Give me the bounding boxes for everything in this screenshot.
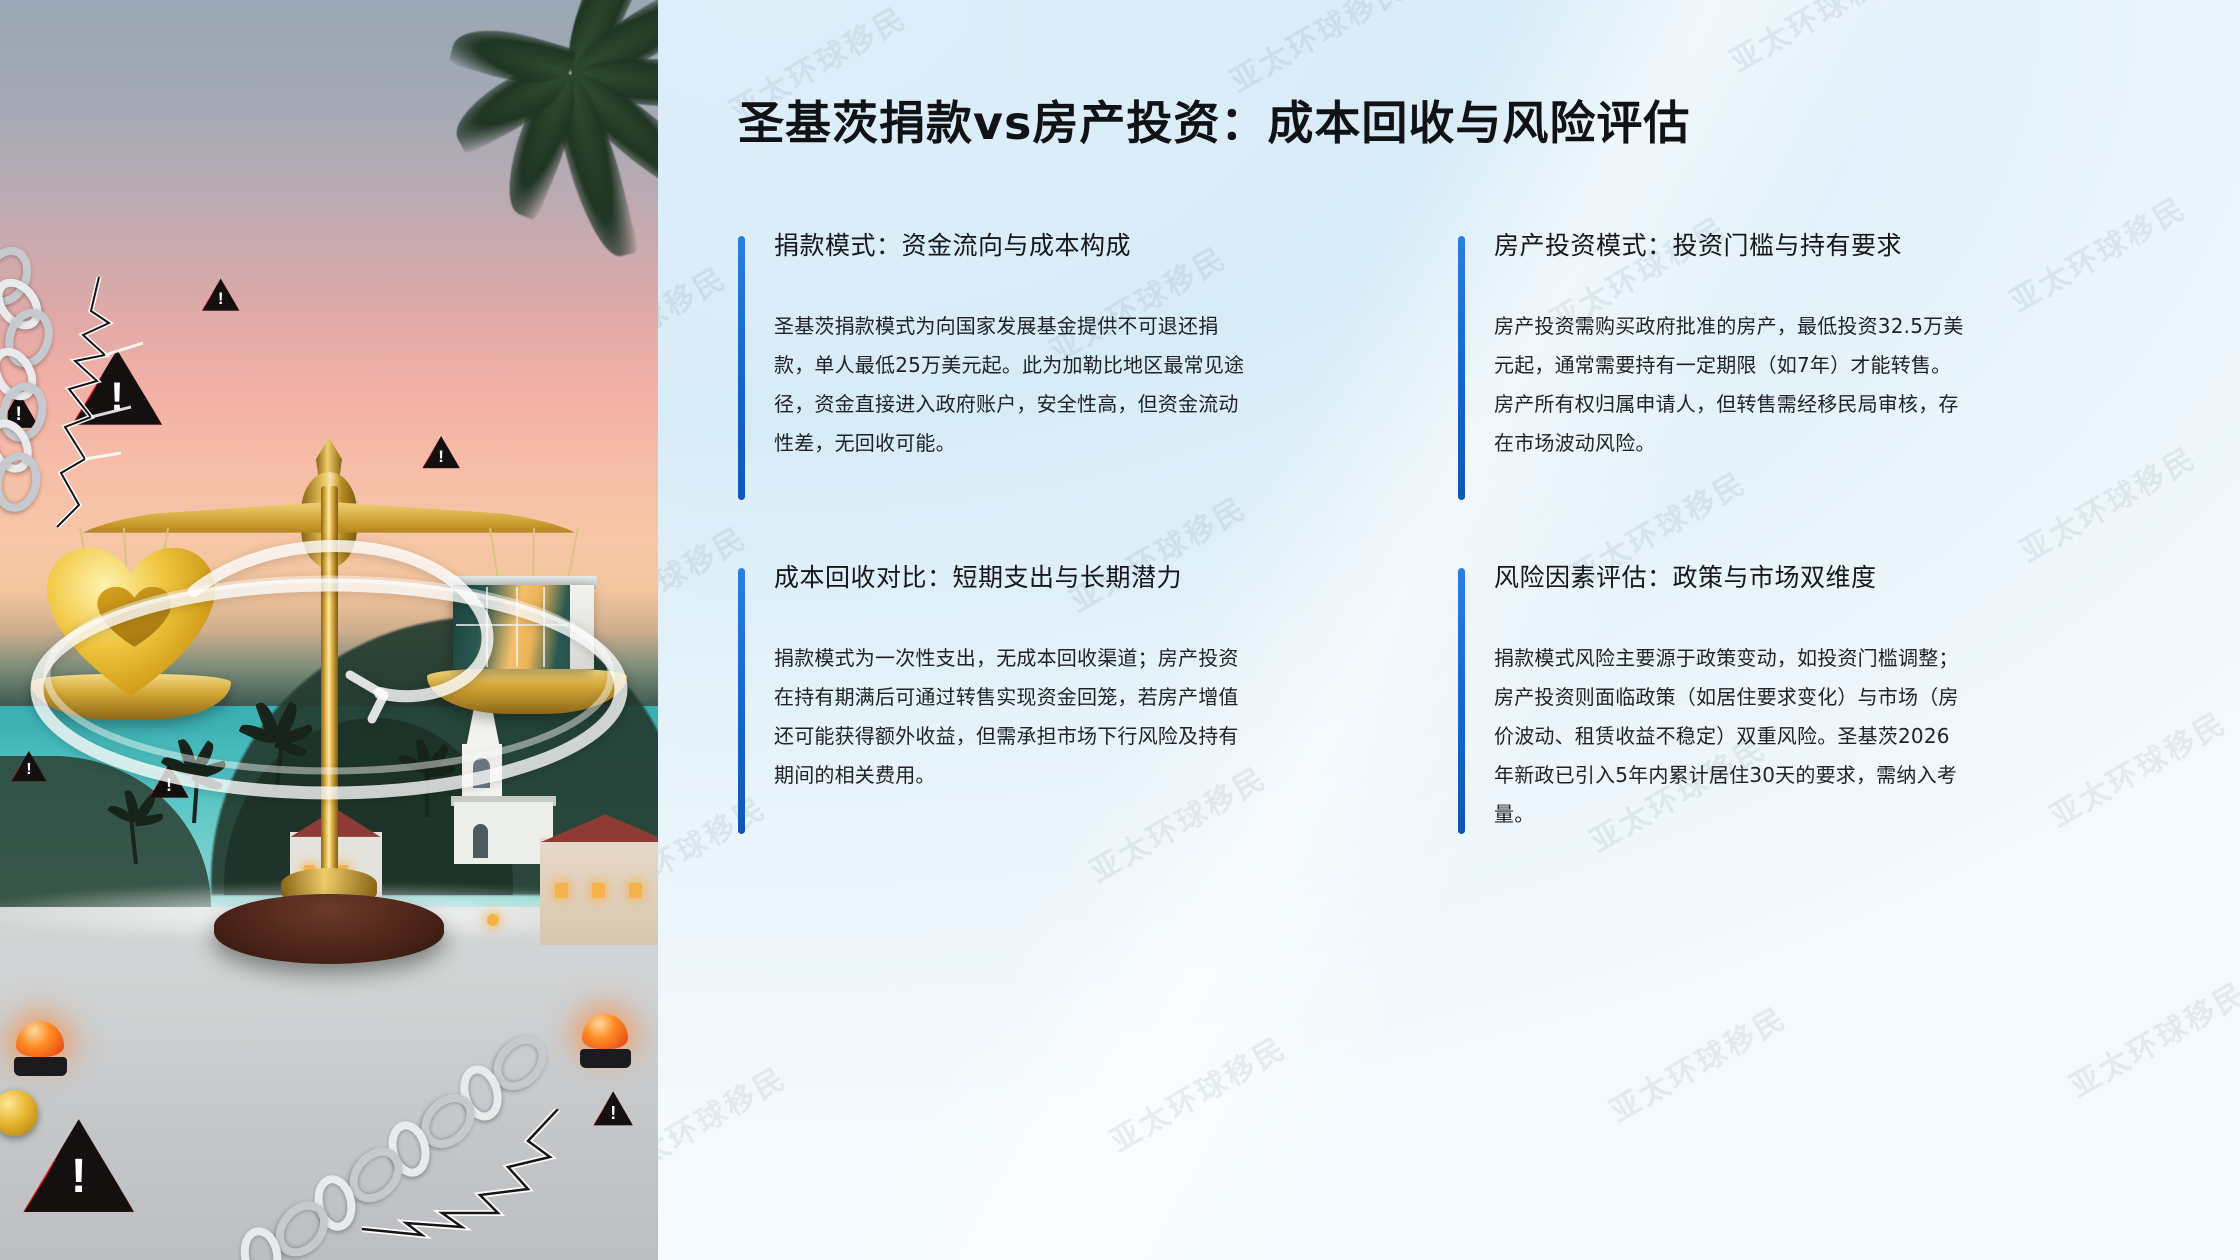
balance-scale: [49, 416, 609, 1016]
floor-crack-icon: [322, 1109, 572, 1249]
card-cost-recovery: 成本回收对比：短期支出与长期潜力 捐款模式为一次性支出，无成本回收渠道；房产投资…: [738, 562, 1246, 834]
accent-bar: [738, 236, 745, 500]
card-body: 捐款模式为一次性支出，无成本回收渠道；房产投资在持有期满后可通过转售实现资金回笼…: [774, 639, 1246, 795]
scale-post: [321, 486, 338, 906]
palm-tree-icon: [372, 0, 658, 300]
scale-base: [214, 894, 444, 964]
card-body: 捐款模式风险主要源于政策变动，如投资门槛调整；房产投资则面临政策（如居住要求变化…: [1494, 639, 1966, 834]
accent-bar: [1458, 236, 1465, 500]
warning-triangle-icon: !: [10, 750, 48, 784]
watermark-text: 亚太环球移民: [658, 1053, 794, 1190]
house-model-icon: [447, 568, 597, 676]
card-heading: 房产投资模式：投资门槛与持有要求: [1494, 230, 1966, 263]
card-property-mode: 房产投资模式：投资门槛与持有要求 房产投资需购买政府批准的房产，最低投资32.5…: [1458, 230, 1966, 500]
illustration-panel: ! ! ! ! ! ! ! !: [0, 0, 658, 1260]
gold-heart-icon: [47, 548, 215, 698]
card-donation-mode: 捐款模式：资金流向与成本构成 圣基茨捐款模式为向国家发展基金提供不可退还捐款，单…: [738, 230, 1246, 500]
watermark-text: 亚太环球移民: [1100, 1023, 1293, 1160]
card-heading: 成本回收对比：短期支出与长期潜力: [774, 562, 1246, 595]
card-heading: 风险因素评估：政策与市场双维度: [1494, 562, 1966, 595]
watermark-text: 亚太环球移民: [2060, 968, 2240, 1105]
card-body: 房产投资需购买政府批准的房产，最低投资32.5万美元起，通常需要持有一定期限（如…: [1494, 307, 1966, 463]
content-panel: 亚太环球移民 亚太环球移民 亚太环球移民 亚太环球移民 亚太环球移民 亚太环球移…: [658, 0, 2240, 1260]
accent-bar: [738, 568, 745, 834]
alarm-beacon-icon: [16, 1021, 64, 1079]
card-body: 圣基茨捐款模式为向国家发展基金提供不可退还捐款，单人最低25万美元起。此为加勒比…: [774, 307, 1246, 463]
accent-bar: [1458, 568, 1465, 834]
warning-triangle-icon: !: [20, 1115, 138, 1219]
page-title: 圣基茨捐款vs房产投资：成本回收与风险评估: [738, 95, 2158, 153]
card-heading: 捐款模式：资金流向与成本构成: [774, 230, 1246, 263]
watermark-text: 亚太环球移民: [658, 253, 734, 390]
watermark-text: 亚太环球移民: [1720, 0, 1913, 81]
card-grid: 捐款模式：资金流向与成本构成 圣基茨捐款模式为向国家发展基金提供不可退还捐款，单…: [738, 230, 2218, 834]
watermark-text: 亚太环球移民: [1220, 0, 1413, 101]
card-risk-assessment: 风险因素评估：政策与市场双维度 捐款模式风险主要源于政策变动，如投资门槛调整；房…: [1458, 562, 1966, 834]
slide-root: ! ! ! ! ! ! ! !: [0, 0, 2240, 1260]
watermark-text: 亚太环球移民: [1600, 993, 1793, 1130]
